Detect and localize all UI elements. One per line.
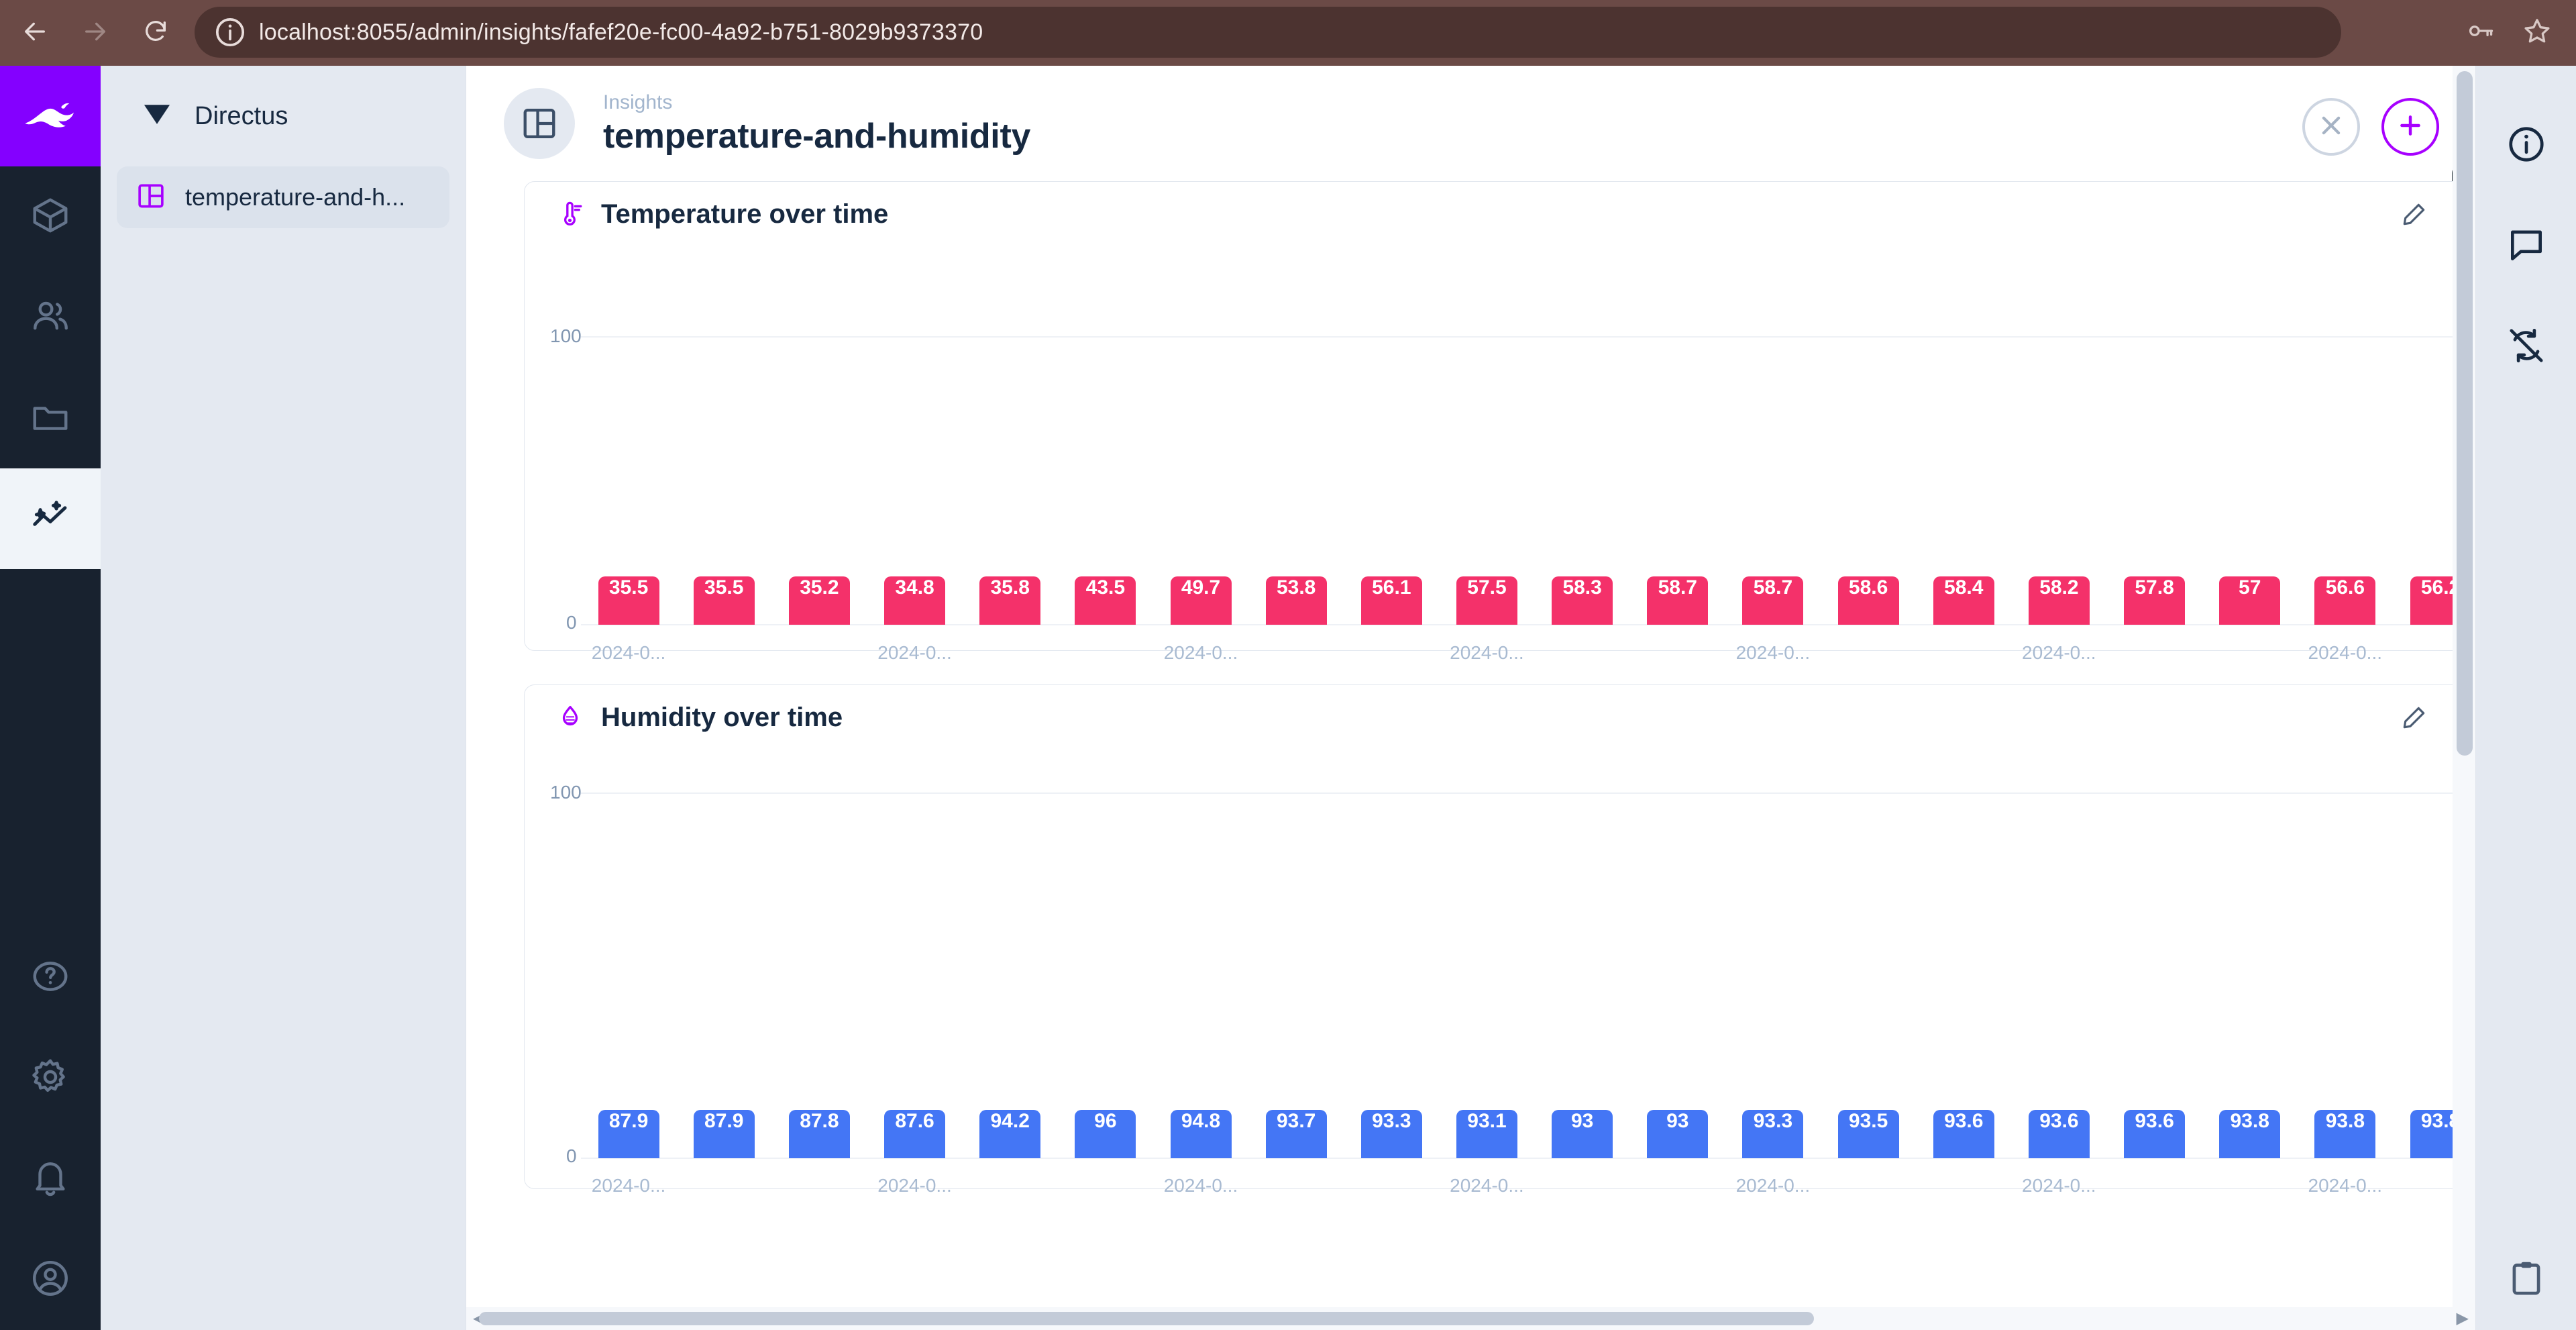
bar-rect: 57 — [2219, 576, 2280, 625]
water-drop-icon — [554, 701, 586, 733]
horizontal-scrollbar-thumb[interactable] — [479, 1312, 1814, 1325]
chart-humidity: 100 0 87.987.987.887.694.29694.893.793.3… — [525, 750, 2518, 1190]
bar-rect: 57.5 — [1456, 576, 1517, 625]
dashboard-panel-icon — [136, 181, 166, 215]
bar-12[interactable]: 93.3 — [1725, 1110, 1821, 1158]
bar-9[interactable]: 57.5 — [1439, 576, 1534, 625]
bar-10[interactable]: 93 — [1535, 1110, 1630, 1158]
bar-rect: 94.8 — [1171, 1110, 1232, 1158]
x-axis-tick-label: 2024-0... — [2308, 1175, 2383, 1196]
bar-1[interactable]: 87.9 — [676, 1110, 771, 1158]
bar-4[interactable]: 94.2 — [963, 1110, 1058, 1158]
bar-rect: 58.7 — [1647, 576, 1708, 625]
nav-sidebar-header: Directus — [101, 66, 466, 166]
bar-value-label: 93.3 — [1372, 1110, 1411, 1133]
back-button[interactable] — [9, 7, 60, 58]
bar-8[interactable]: 93.3 — [1344, 1110, 1439, 1158]
bar-value-label: 58.7 — [1658, 576, 1697, 599]
forward-button[interactable] — [70, 7, 121, 58]
bar-rect: 93.6 — [2029, 1110, 2090, 1158]
bar-rect: 56.1 — [1361, 576, 1422, 625]
bar-0[interactable]: 35.5 — [581, 576, 676, 625]
plot-area-humidity: 87.987.987.887.694.29694.893.793.393.193… — [581, 792, 2488, 1158]
x-axis-tick-label: 2024-0... — [1450, 1175, 1524, 1196]
panels-container: Temperature over time — [466, 181, 2576, 1330]
bar-value-label: 35.2 — [800, 576, 839, 599]
module-bar — [0, 66, 101, 1330]
bar-value-label: 87.9 — [609, 1110, 648, 1133]
bar-18[interactable]: 93.8 — [2298, 1110, 2393, 1158]
folder-icon — [30, 396, 71, 441]
bar-value-label: 58.6 — [1849, 576, 1888, 599]
bar-9[interactable]: 93.1 — [1439, 1110, 1534, 1158]
bar-3[interactable]: 34.8 — [867, 576, 962, 625]
bar-value-label: 35.5 — [704, 576, 743, 599]
bar-7[interactable]: 53.8 — [1248, 576, 1344, 625]
bar-rect: 58.2 — [2029, 576, 2090, 625]
url-text: localhost:8055/admin/insights/fafef20e-f… — [259, 19, 983, 46]
bar-rect: 43.5 — [1075, 576, 1136, 625]
notes-button[interactable] — [2476, 1229, 2576, 1330]
bar-rect: 34.8 — [884, 576, 945, 625]
password-key-icon[interactable] — [2466, 16, 2495, 49]
box-icon — [30, 195, 71, 240]
bar-value-label: 34.8 — [895, 576, 934, 599]
x-axis-tick-label: 2024-0... — [877, 642, 952, 664]
bar-13[interactable]: 58.6 — [1821, 576, 1916, 625]
site-info-icon[interactable] — [213, 15, 247, 49]
panel-humidity[interactable]: Humidity over time — [524, 684, 2518, 1189]
module-item-settings[interactable] — [0, 1028, 101, 1129]
x-axis-tick-label: 2024-0... — [1164, 642, 1238, 664]
x-axis-tick-label: 2024-0... — [877, 1175, 952, 1196]
bar-rect: 53.8 — [1266, 576, 1327, 625]
bar-value-label: 93.6 — [1944, 1110, 1983, 1133]
bar-rect: 87.6 — [884, 1110, 945, 1158]
bar-value-label: 96 — [1094, 1110, 1116, 1133]
bar-value-label: 57.8 — [2135, 576, 2173, 599]
bar-17[interactable]: 93.8 — [2202, 1110, 2298, 1158]
directus-mark-icon — [140, 97, 174, 136]
comments-sidebar-button[interactable] — [2476, 196, 2576, 297]
pencil-icon[interactable] — [2397, 197, 2432, 232]
bar-value-label: 87.8 — [800, 1110, 839, 1133]
bar-5[interactable]: 96 — [1058, 1110, 1153, 1158]
bar-value-label: 57.5 — [1467, 576, 1506, 599]
reload-button[interactable] — [130, 7, 181, 58]
gear-icon — [30, 1056, 71, 1101]
nav-sidebar-list: temperature-and-h... — [101, 166, 466, 228]
address-bar-actions — [2466, 7, 2552, 58]
bar-value-label: 93 — [1666, 1110, 1688, 1133]
bar-2[interactable]: 87.8 — [771, 1110, 867, 1158]
module-item-help[interactable] — [0, 927, 101, 1028]
y-tick-min: 0 — [566, 612, 577, 633]
bar-rect: 93 — [1552, 1110, 1613, 1158]
address-bar[interactable]: localhost:8055/admin/insights/fafef20e-f… — [195, 7, 2341, 58]
bar-11[interactable]: 93 — [1630, 1110, 1725, 1158]
bar-rect: 35.5 — [598, 576, 659, 625]
bar-rect: 94.2 — [979, 1110, 1040, 1158]
plus-icon — [2395, 110, 2426, 144]
bar-rect: 87.9 — [598, 1110, 659, 1158]
x-axis-tick-label: 2024-0... — [2308, 642, 2383, 664]
bar-8[interactable]: 56.1 — [1344, 576, 1439, 625]
back-arrow-icon — [21, 18, 48, 48]
bar-value-label: 49.7 — [1181, 576, 1220, 599]
app-shell: Directus temperature-and-h... — [0, 66, 2576, 1330]
comment-icon — [2506, 224, 2547, 269]
bar-rect: 87.9 — [694, 1110, 755, 1158]
cancel-button[interactable] — [2302, 98, 2360, 156]
page-header: Insights temperature-and-humidity — [466, 66, 2576, 181]
x-axis-tick-label: 2024-0... — [1736, 642, 1811, 664]
bar-value-label: 53.8 — [1277, 576, 1316, 599]
bar-12[interactable]: 58.7 — [1725, 576, 1821, 625]
bar-rect: 93.3 — [1361, 1110, 1422, 1158]
panel-temperature[interactable]: Temperature over time — [524, 181, 2518, 651]
info-circle-icon — [2506, 123, 2547, 168]
bar-rect: 93 — [1647, 1110, 1708, 1158]
info-sidebar-button[interactable] — [2476, 95, 2576, 196]
breadcrumb[interactable]: Insights — [603, 90, 1030, 115]
page-titles: Insights temperature-and-humidity — [603, 90, 1030, 157]
pencil-icon[interactable] — [2397, 700, 2432, 735]
bar-4[interactable]: 35.8 — [963, 576, 1058, 625]
bar-value-label: 87.6 — [895, 1110, 934, 1133]
bar-rect: 93.8 — [2219, 1110, 2280, 1158]
x-axis-tick-label: 2024-0... — [1164, 1175, 1238, 1196]
bar-value-label: 93 — [1571, 1110, 1593, 1133]
bar-rect: 93.7 — [1266, 1110, 1327, 1158]
scroll-right-arrow-icon[interactable]: ▶ — [2457, 1309, 2469, 1328]
directus-rabbit-logo[interactable] — [0, 66, 101, 166]
account-circle-icon — [30, 1258, 71, 1302]
bar-14[interactable]: 93.6 — [1916, 1110, 2011, 1158]
bar-3[interactable]: 87.6 — [867, 1110, 962, 1158]
reload-icon — [142, 18, 169, 48]
nav-sidebar-title: Directus — [195, 102, 288, 131]
bar-rect: 87.8 — [789, 1110, 850, 1158]
bar-16[interactable]: 57.8 — [2107, 576, 2202, 625]
bar-rect: 35.8 — [979, 576, 1040, 625]
bar-5[interactable]: 43.5 — [1058, 576, 1153, 625]
bar-value-label: 93.6 — [2135, 1110, 2173, 1133]
bar-rect: 35.5 — [694, 576, 755, 625]
y-tick-max: 100 — [550, 325, 582, 347]
bar-rect: 93.1 — [1456, 1110, 1517, 1158]
close-x-icon — [2316, 110, 2347, 144]
help-circle-icon — [30, 956, 71, 1001]
bar-value-label: 35.8 — [991, 576, 1030, 599]
bar-6[interactable]: 49.7 — [1153, 576, 1248, 625]
vertical-scrollbar-thumb[interactable] — [2457, 71, 2473, 756]
bar-6[interactable]: 94.8 — [1153, 1110, 1248, 1158]
bar-value-label: 94.2 — [991, 1110, 1030, 1133]
panel-header: Humidity over time — [525, 685, 2518, 750]
bar-1[interactable]: 35.5 — [676, 576, 771, 625]
bar-value-label: 56.6 — [2326, 576, 2365, 599]
bar-value-label: 94.8 — [1181, 1110, 1220, 1133]
users-icon — [30, 295, 71, 340]
sidebar-item-temperature-and-humidity[interactable]: temperature-and-h... — [117, 166, 449, 228]
x-axis-tick-label: 2024-0... — [592, 1175, 666, 1196]
bar-rect: 58.4 — [1933, 576, 1994, 625]
bar-rect: 35.2 — [789, 576, 850, 625]
bookmark-star-icon[interactable] — [2522, 16, 2552, 49]
bar-rect: 93.6 — [1933, 1110, 1994, 1158]
bar-rect: 93.3 — [1742, 1110, 1803, 1158]
bar-rect: 57.8 — [2124, 576, 2185, 625]
module-item-account[interactable] — [0, 1229, 101, 1330]
bar-rect: 93.5 — [1838, 1110, 1899, 1158]
bar-value-label: 58.4 — [1944, 576, 1983, 599]
forward-arrow-icon — [82, 18, 109, 48]
bar-value-label: 93.5 — [1849, 1110, 1888, 1133]
module-item-insights[interactable] — [0, 468, 101, 569]
module-item-notifications[interactable] — [0, 1129, 101, 1229]
bar-17[interactable]: 57 — [2202, 576, 2298, 625]
thermometer-icon — [554, 198, 586, 230]
bar-15[interactable]: 93.6 — [2011, 1110, 2106, 1158]
y-tick-min: 0 — [566, 1145, 577, 1167]
bar-value-label: 58.3 — [1562, 576, 1601, 599]
main-content: Insights temperature-and-humidity — [466, 66, 2576, 1330]
bar-value-label: 35.5 — [609, 576, 648, 599]
x-axis-tick-label: 2024-0... — [1736, 1175, 1811, 1196]
bar-value-label: 93.1 — [1467, 1110, 1506, 1133]
clipboard-icon — [2506, 1258, 2547, 1302]
plot-area-temperature: 35.535.535.234.835.843.549.753.856.157.5… — [581, 336, 2488, 625]
sidebar-item-label: temperature-and-h... — [185, 183, 405, 211]
bar-value-label: 43.5 — [1086, 576, 1125, 599]
x-axis-humidity: 2024-0...2024-0...2024-0...2024-0...2024… — [581, 1175, 2488, 1202]
bell-icon — [30, 1157, 71, 1202]
add-panel-button[interactable] — [2381, 98, 2439, 156]
bar-value-label: 87.9 — [704, 1110, 743, 1133]
right-sidebar — [2475, 66, 2576, 1330]
bar-7[interactable]: 93.7 — [1248, 1110, 1344, 1158]
bar-rect: 93.6 — [2124, 1110, 2185, 1158]
bar-rect: 96 — [1075, 1110, 1136, 1158]
module-item-files[interactable] — [0, 368, 101, 468]
bar-value-label: 58.2 — [2039, 576, 2078, 599]
bar-13[interactable]: 93.5 — [1821, 1110, 1916, 1158]
panel-title: Humidity over time — [601, 703, 843, 733]
x-axis-tick-label: 2024-0... — [1450, 642, 1524, 664]
x-axis-tick-label: 2024-0... — [592, 642, 666, 664]
page-title: temperature-and-humidity — [603, 115, 1030, 157]
browser-chrome: localhost:8055/admin/insights/fafef20e-f… — [0, 0, 2576, 66]
bar-rect: 49.7 — [1171, 576, 1232, 625]
bar-rect: 93.8 — [2314, 1110, 2375, 1158]
page-icon — [504, 88, 575, 159]
module-item-users[interactable] — [0, 267, 101, 368]
bar-value-label: 93.8 — [2326, 1110, 2365, 1133]
bar-value-label: 58.7 — [1754, 576, 1792, 599]
bar-rect: 58.3 — [1552, 576, 1613, 625]
bar-14[interactable]: 58.4 — [1916, 576, 2011, 625]
bar-value-label: 93.8 — [2231, 1110, 2269, 1133]
module-item-content[interactable] — [0, 166, 101, 267]
panel-header: Temperature over time — [525, 182, 2518, 246]
bar-value-label: 57 — [2239, 576, 2261, 599]
bar-value-label: 93.6 — [2039, 1110, 2078, 1133]
nav-sidebar: Directus temperature-and-h... — [101, 66, 466, 1330]
x-axis-tick-label: 2024-0... — [2022, 1175, 2096, 1196]
bar-2[interactable]: 35.2 — [771, 576, 867, 625]
bar-rect: 58.6 — [1838, 576, 1899, 625]
bar-value-label: 93.7 — [1277, 1110, 1316, 1133]
bar-10[interactable]: 58.3 — [1535, 576, 1630, 625]
bar-rect: 56.6 — [2314, 576, 2375, 625]
bar-rect: 58.7 — [1742, 576, 1803, 625]
panel-title: Temperature over time — [601, 199, 888, 229]
revisions-disabled-button[interactable] — [2476, 297, 2576, 397]
bar-16[interactable]: 93.6 — [2107, 1110, 2202, 1158]
sync-off-icon — [2506, 325, 2547, 370]
insights-chart-icon — [30, 497, 71, 542]
bar-value-label: 56.1 — [1372, 576, 1411, 599]
bar-value-label: 93.3 — [1754, 1110, 1792, 1133]
chart-temperature: 100 0 35.535.535.234.835.843.549.753.856… — [525, 246, 2518, 652]
y-tick-max: 100 — [550, 782, 582, 803]
bar-15[interactable]: 58.2 — [2011, 576, 2106, 625]
bar-18[interactable]: 56.6 — [2298, 576, 2393, 625]
x-axis-tick-label: 2024-0... — [2022, 642, 2096, 664]
bar-0[interactable]: 87.9 — [581, 1110, 676, 1158]
x-axis-temperature: 2024-0...2024-0...2024-0...2024-0...2024… — [581, 642, 2488, 669]
bar-11[interactable]: 58.7 — [1630, 576, 1725, 625]
